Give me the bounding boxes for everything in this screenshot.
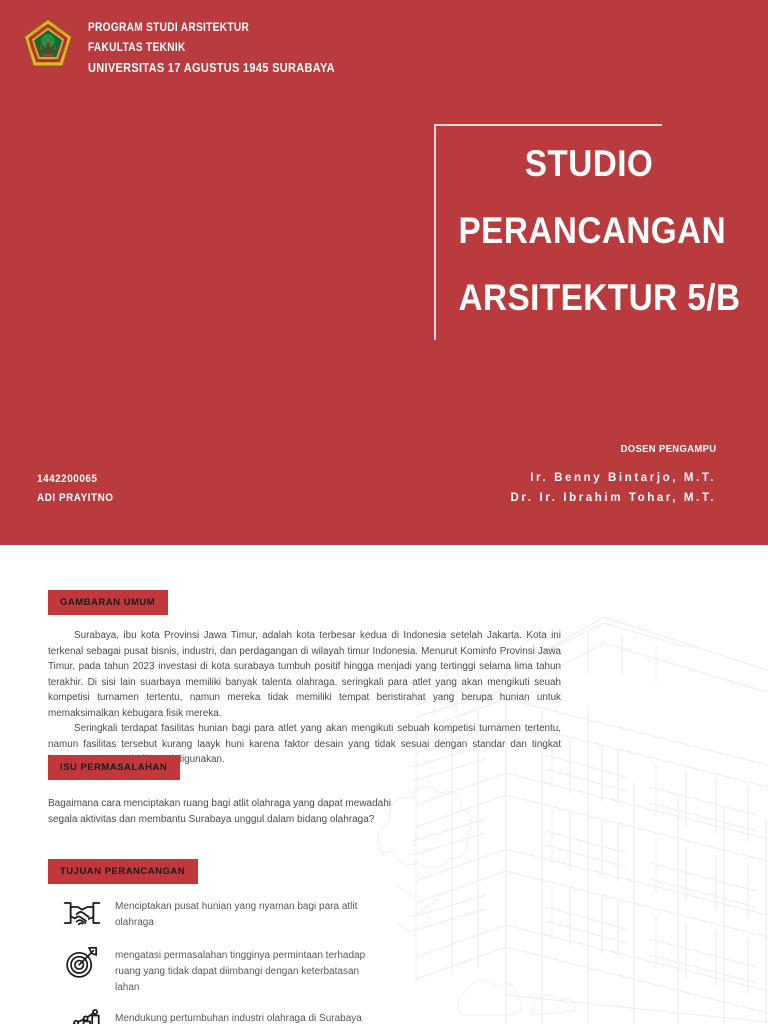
lecturer-name-2: Dr. Ir. Ibrahim Tohar, M.T. bbox=[511, 488, 716, 508]
handshake-icon bbox=[60, 893, 104, 933]
lecturer-name-1: Ir. Benny Bintarjo, M.T. bbox=[511, 468, 716, 488]
institution-line-1: PROGRAM STUDI ARSITEKTUR bbox=[88, 18, 335, 38]
institution-line-2: FAKULTAS TEKNIK bbox=[88, 38, 335, 58]
bar-chart-growth-icon bbox=[60, 1005, 104, 1024]
hero-title-block: STUDIO PERANCANGAN ARSITEKTUR 5/B bbox=[434, 124, 734, 340]
bracket-top-rule bbox=[434, 124, 662, 126]
section-tujuan-perancangan: TUJUAN PERANCANGAN bbox=[48, 859, 375, 1024]
section-gambaran-umum: GAMBARAN UMUM Surabaya, ibu kota Provins… bbox=[48, 590, 561, 768]
isu-permasalahan-text: Bagaimana cara menciptakan ruang bagi at… bbox=[48, 796, 408, 828]
hero-title-line-1: STUDIO bbox=[459, 130, 720, 197]
goal-item: Mendukung pertumbuhan industri olahraga … bbox=[48, 1005, 375, 1024]
goal-item: mengatasi permasalahan tingginya permint… bbox=[48, 942, 375, 996]
section-isu-permasalahan: ISU PERMASALAHAN Bagaimana cara mencipta… bbox=[48, 755, 408, 828]
badge-isu-permasalahan: ISU PERMASALAHAN bbox=[48, 755, 180, 780]
lecturer-credit: DOSEN PENGAMPU Ir. Benny Bintarjo, M.T. … bbox=[511, 443, 716, 508]
badge-tujuan-perancangan: TUJUAN PERANCANGAN bbox=[48, 859, 198, 884]
hero-red-panel: PROGRAM STUDI ARSITEKTUR FAKULTAS TEKNIK… bbox=[0, 0, 768, 545]
lecturer-caption: DOSEN PENGAMPU bbox=[531, 443, 716, 455]
goal-list: Menciptakan pusat hunian yang nyaman bag… bbox=[48, 893, 375, 1024]
hero-title-line-3: ARSITEKTUR 5/B bbox=[459, 264, 720, 331]
content-white-panel: GAMBARAN UMUM Surabaya, ibu kota Provins… bbox=[0, 545, 768, 1024]
institution-line-3: UNIVERSITAS 17 AGUSTUS 1945 SURABAYA bbox=[88, 58, 335, 78]
hero-title-line-2: PERANCANGAN bbox=[459, 197, 720, 264]
student-nim: 1442200065 bbox=[37, 470, 114, 489]
university-crest-logo bbox=[22, 18, 74, 70]
goal-text: Menciptakan pusat hunian yang nyaman bag… bbox=[115, 893, 375, 931]
goal-text: Mendukung pertumbuhan industri olahraga … bbox=[115, 1005, 362, 1024]
institution-header: PROGRAM STUDI ARSITEKTUR FAKULTAS TEKNIK… bbox=[22, 16, 369, 78]
goal-item: Menciptakan pusat hunian yang nyaman bag… bbox=[48, 893, 375, 933]
goal-text: mengatasi permasalahan tingginya permint… bbox=[115, 942, 375, 996]
bracket-left-rule bbox=[434, 124, 436, 340]
target-dart-icon bbox=[60, 942, 104, 982]
student-name: ADI PRAYITNO bbox=[37, 489, 114, 508]
badge-gambaran-umum: GAMBARAN UMUM bbox=[48, 590, 168, 615]
gambaran-paragraph-1: Surabaya, ibu kota Provinsi Jawa Timur, … bbox=[48, 628, 561, 721]
student-credit: 1442200065 ADI PRAYITNO bbox=[37, 470, 122, 508]
